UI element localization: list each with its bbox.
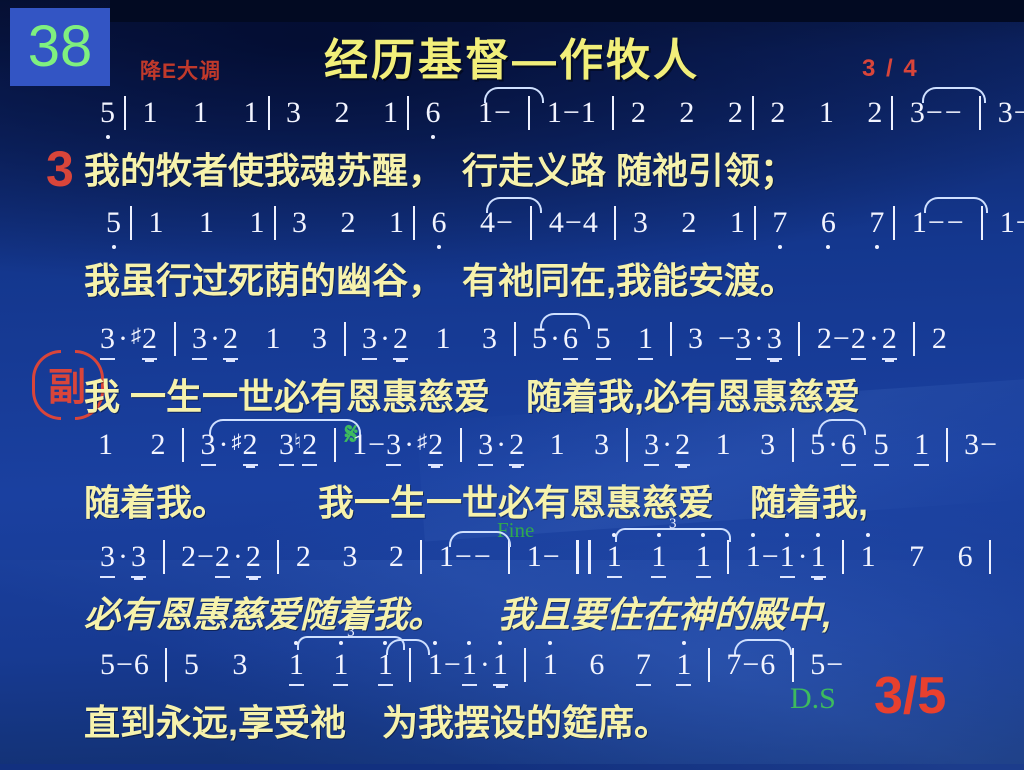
note: 1 [527,540,542,574]
note: 1 [143,96,158,130]
lyric-row: 必有恩惠慈爱随着我。 我且要住在神的殿中, [0,586,1024,638]
barline [727,540,729,574]
hold-dash: − [1013,96,1024,130]
note: 3 [482,322,497,356]
hold-dash: − [825,648,844,682]
note: 5 [100,648,115,682]
barline [893,206,895,240]
lyric-row: 随着我。 我一生一世必有恩惠慈爱 随着我, [0,474,1024,526]
barline [946,428,948,462]
note: 1 [912,206,927,240]
lyric-row: 直到永远,享受祂 为我摆设的筵席。 [0,694,1024,746]
note: 2 [882,322,897,360]
barline [614,206,616,240]
dotted-rhythm-dot: · [795,540,811,574]
note: 2 [867,96,882,130]
note: 7 [726,648,741,682]
note: 1 [780,540,795,578]
hold-dash: − [979,428,998,462]
note: 3 [362,322,377,360]
note: 2 [393,322,408,360]
note: 7 [636,648,651,686]
barline [268,96,270,130]
barline [165,648,167,682]
barline [174,322,176,356]
hold-dash: − [761,540,780,574]
note: 1 [436,322,451,356]
hold-dash: − [562,96,581,130]
note: 1 [819,96,834,130]
lyric-row: 我虽行过死荫的幽谷， 有祂同在,我能安渡。 [0,252,1024,304]
note: 2 [296,540,311,574]
note: 1 [581,96,596,130]
stave-chorus-line2: 1 2 3·♯2 3♮2 1−3·♯2 3·2 1 3 3·2 1 3 5·6 … [0,428,1024,526]
note: 1 [149,206,164,240]
barline [708,648,710,682]
note: 3 [594,428,609,462]
note: 1 [333,648,348,686]
barline [460,428,462,462]
barline [514,322,516,356]
barline [798,322,800,356]
note: 3 [688,322,703,356]
note: 1 [493,648,508,686]
note: 3 [292,206,307,240]
barline [913,322,915,356]
hold-dash: − [1015,206,1024,240]
dotted-rhythm-dot: · [866,322,882,356]
note: 3 [342,540,357,574]
note: 1 [730,206,745,240]
barline [344,322,346,356]
note: 6 [821,206,836,240]
note: 1 [638,322,653,360]
note: 3 [232,648,247,682]
hold-dash: − [196,540,215,574]
note: 5 [596,322,611,360]
note: 3 [100,540,115,578]
note: 5 [810,428,825,462]
note: 2 [243,428,258,466]
hold-dash: − [115,648,134,682]
barline [792,648,794,682]
triplet-number: 3 [669,516,677,533]
barline [124,96,126,130]
dotted-rhythm-dot: · [207,322,223,356]
stave-v1-line1: 5 1 1 1 3 2 1 6 1− 1−1 2 2 2 2 1 2 3−− 3… [0,96,1024,194]
note: 2 [181,540,196,574]
hold-dash: − [542,540,561,574]
note: 2 [728,96,743,130]
note: 3 [201,428,216,466]
note: 7 [772,206,787,240]
note: 3 [192,322,207,360]
note: 1 [378,648,393,686]
barline [420,540,422,574]
note: 4 [480,206,495,240]
note: 3 [386,428,401,466]
note: 1 [861,540,876,574]
note: 3 [633,206,648,240]
barline [842,540,844,574]
note: 3 [478,428,493,466]
note: 13 [607,540,622,578]
note: 1 [914,428,929,466]
stave-chorus-line4: 5−6 5 3 13 1 1 1−1·1 1 6 7 1 7−6 5− 直到永远… [0,648,1024,746]
note: 7 [869,206,884,240]
note: 3 [644,428,659,466]
stave-v1-line2: 5 1 1 1 3 2 1 6 4− 4−4 3 2 1 7 6 7 1−− 1… [0,206,1024,304]
note: 2 [675,428,690,466]
note: 1 [193,96,208,130]
note: 2 [679,96,694,130]
barline [182,428,184,462]
note: 1 [550,428,565,462]
note: 1 [352,428,367,462]
barline [626,428,628,462]
note: 6 [589,648,604,682]
note: 1 [98,428,113,462]
note: 6 [563,322,578,360]
note: 3 [964,428,979,462]
barline [407,96,409,130]
note: 3 [760,428,775,462]
dotted-rhythm-dot: · [493,428,509,462]
dotted-rhythm-dot: · [377,322,393,356]
dotted-rhythm-dot: · [477,648,493,682]
sharp-icon: ♯ [131,325,142,347]
barline [274,206,276,240]
note: 1 [478,96,493,130]
barline [612,96,614,130]
note: 2 [509,428,524,466]
note: 6 [841,428,856,466]
barline [989,540,991,574]
note: 3 [736,322,751,360]
hold-dash: − [367,428,386,462]
note: 6 [432,206,447,240]
note: 1 [439,540,454,574]
note: 13 [289,648,304,686]
note: 3 [767,322,782,360]
barline [130,206,132,240]
dotted-rhythm-dot: · [751,322,767,356]
hold-dash: − [832,322,851,356]
note: 2 [142,322,157,360]
barline [670,322,672,356]
note: 5 [810,648,825,682]
barline [752,96,754,130]
note: 1 [428,648,443,682]
note: 3 [279,428,294,466]
dotted-rhythm-dot: · [659,428,675,462]
note: 2 [817,322,832,356]
barline [891,96,893,130]
barline [792,428,794,462]
note: 1 [1000,206,1015,240]
note: 3 [998,96,1013,130]
note: 1 [651,540,666,578]
notation-row: 3·3 2−2·2 2 3 2 1−− 1− 13 1 1 1−1·1 1 7 … [0,540,1024,586]
note: 2 [302,428,317,466]
barline [524,648,526,682]
note: 1 [250,206,265,240]
dotted-rhythm-dot: · [401,428,417,462]
note: 1 [244,96,259,130]
note: 5 [184,648,199,682]
dotted-rhythm-dot: · [230,540,246,574]
note: 1 [811,540,826,578]
note: 1 [383,96,398,130]
note: 2 [428,428,443,466]
note: 6 [134,648,149,682]
note: 3 [131,540,146,578]
time-signature: 3 / 4 [862,55,919,83]
header-bar [110,0,1024,22]
note: 2 [631,96,646,130]
note: 5 [100,96,115,130]
note: 2 [341,206,356,240]
barline [277,540,279,574]
note: 1 [746,540,761,574]
note: 2 [151,428,166,462]
note: 2 [215,540,230,578]
note: 6 [426,96,441,130]
note: 1 [716,428,731,462]
note: 1 [266,322,281,356]
notation-row: 5 1 1 1 3 2 1 6 4− 4−4 3 2 1 7 6 7 1−− 1… [0,206,1024,252]
note: 4 [549,206,564,240]
stave-chorus-line1: 3·♯2 3·2 1 3 3·2 1 3 5·6 5 1 3−3·3 2−2·2… [0,322,1024,420]
note: 2 [851,322,866,360]
note: 6 [760,648,775,682]
note: 5 [874,428,889,466]
note: 2 [335,96,350,130]
note: 2 [223,322,238,360]
sharp-icon: ♯ [417,431,428,453]
notation-row: 5 1 1 1 3 2 1 6 1− 1−1 2 2 2 2 1 2 3−− 3… [0,96,1024,142]
barline [754,206,756,240]
hold-dash: − [443,648,462,682]
note: 7 [909,540,924,574]
note: 6 [958,540,973,574]
dotted-rhythm-dot: · [115,540,131,574]
note: 3 [312,322,327,356]
note: 1 [543,648,558,682]
note: 1 [696,540,711,578]
note: 2 [770,96,785,130]
slide-canvas: 38 降E大调 经历基督—作牧人 3 / 4 3 副 𝄋 Fine D.S 3/… [0,0,1024,764]
barline [163,540,165,574]
barline [413,206,415,240]
note: 1 [462,648,477,686]
stave-chorus-line3: 3·3 2−2·2 2 3 2 1−− 1− 13 1 1 1−1·1 1 7 … [0,540,1024,638]
double-barline [576,540,591,574]
note: 3 [100,322,115,360]
hold-dash: − [717,322,736,356]
note: 1 [547,96,562,130]
lyric-row: 我 一生一世必有恩惠慈爱 随着我,必有恩惠慈爱 [0,368,1024,420]
note: 2 [681,206,696,240]
note: 3 [910,96,925,130]
note: 2 [389,540,404,574]
note: 1 [389,206,404,240]
note: 1 [199,206,214,240]
note: 2 [246,540,261,578]
notation-row: 5−6 5 3 13 1 1 1−1·1 1 6 7 1 7−6 5− [0,648,1024,694]
lyric-row: 我的牧者使我魂苏醒， 行走义路 随祂引领； [0,142,1024,194]
hold-dash: − [564,206,583,240]
note: 1 [676,648,691,686]
note: 2 [932,322,947,356]
note: 5 [106,206,121,240]
note: 4 [583,206,598,240]
note: 5 [532,322,547,356]
dotted-rhythm-dot: · [115,322,131,356]
notation-row: 3·♯2 3·2 1 3 3·2 1 3 5·6 5 1 3−3·3 2−2·2… [0,322,1024,368]
triplet-number: 3 [347,624,355,641]
notation-row: 1 2 3·♯2 3♮2 1−3·♯2 3·2 1 3 3·2 1 3 5·6 … [0,428,1024,474]
note: 3 [286,96,301,130]
